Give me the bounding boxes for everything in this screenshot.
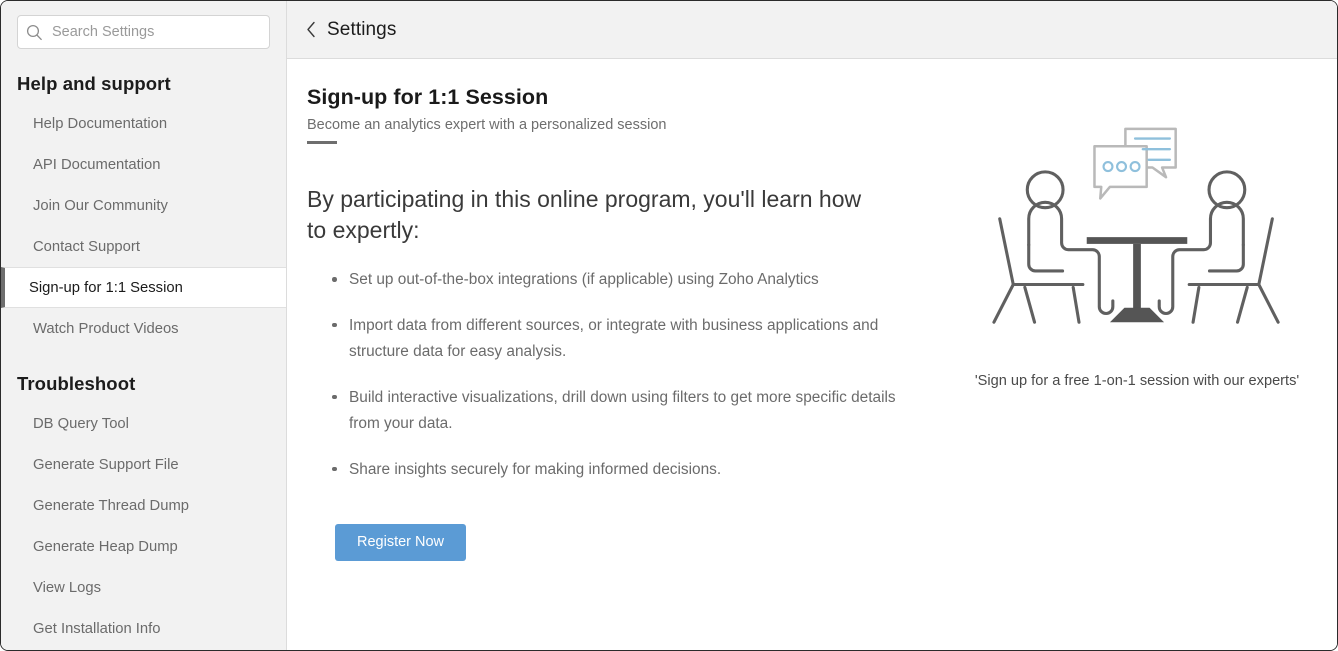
content-right-column: 'Sign up for a free 1-on-1 session with … — [937, 85, 1337, 650]
sidebar-item-label: Join Our Community — [33, 198, 168, 214]
illustration-caption: 'Sign up for a free 1-on-1 session with … — [975, 373, 1299, 389]
sidebar-item-label: Watch Product Videos — [33, 321, 179, 337]
sidebar-item-label: Get Installation Info — [33, 621, 161, 637]
sidebar-section-help-and-support: Help and support — [1, 59, 286, 103]
list-item: Set up out-of-the-box integrations (if a… — [349, 267, 914, 293]
sidebar-item-generate-thread-dump[interactable]: Generate Thread Dump — [1, 485, 286, 526]
sidebar-item-label: Help Documentation — [33, 116, 167, 132]
sidebar-item-get-installation-info[interactable]: Get Installation Info — [1, 608, 286, 649]
sidebar-item-view-logs[interactable]: View Logs — [1, 567, 286, 608]
feature-list: Set up out-of-the-box integrations (if a… — [307, 267, 937, 483]
content-area: Sign-up for 1:1 Session Become an analyt… — [287, 59, 1337, 650]
settings-sidebar: Help and support Help Documentation API … — [1, 1, 287, 650]
register-now-button[interactable]: Register Now — [335, 524, 466, 561]
two-people-at-table-with-chat-bubbles-illustration — [992, 117, 1282, 365]
sidebar-item-label: View Logs — [33, 580, 101, 596]
title-accent-bar — [307, 141, 337, 144]
sidebar-item-db-query-tool[interactable]: DB Query Tool — [1, 403, 286, 444]
content-left-column: Sign-up for 1:1 Session Become an analyt… — [307, 85, 937, 650]
sidebar-item-label: Sign-up for 1:1 Session — [29, 280, 183, 296]
sidebar-item-join-our-community[interactable]: Join Our Community — [1, 185, 286, 226]
sidebar-section-troubleshoot: Troubleshoot — [1, 349, 286, 403]
sidebar-item-watch-product-videos[interactable]: Watch Product Videos — [1, 308, 286, 349]
sidebar-item-label: Contact Support — [33, 239, 140, 255]
sidebar-item-label: Generate Thread Dump — [33, 498, 189, 514]
list-item: Build interactive visualizations, drill … — [349, 385, 914, 438]
list-item: Share insights securely for making infor… — [349, 457, 914, 483]
search-icon — [26, 24, 43, 41]
sidebar-item-label: API Documentation — [33, 157, 161, 173]
settings-window: Help and support Help Documentation API … — [0, 0, 1338, 651]
search-input[interactable] — [52, 24, 261, 40]
search-settings-field[interactable] — [17, 15, 270, 49]
sidebar-item-contact-support[interactable]: Contact Support — [1, 226, 286, 267]
lead-heading: By participating in this online program,… — [307, 184, 882, 245]
sidebar-item-generate-heap-dump[interactable]: Generate Heap Dump — [1, 526, 286, 567]
sidebar-item-label: Generate Heap Dump — [33, 539, 178, 555]
sidebar-item-sign-up-for-1-1-session[interactable]: Sign-up for 1:1 Session — [1, 267, 287, 308]
main-panel: Settings Sign-up for 1:1 Session Become … — [287, 1, 1337, 650]
page-subtitle: Become an analytics expert with a person… — [307, 117, 937, 133]
list-item: Import data from different sources, or i… — [349, 313, 914, 366]
breadcrumb[interactable]: Settings — [327, 19, 396, 41]
page-title: Sign-up for 1:1 Session — [307, 85, 937, 110]
main-header: Settings — [287, 1, 1337, 59]
sidebar-item-label: DB Query Tool — [33, 416, 129, 432]
sidebar-item-label: Generate Support File — [33, 457, 179, 473]
sidebar-item-help-documentation[interactable]: Help Documentation — [1, 103, 286, 144]
sidebar-item-api-documentation[interactable]: API Documentation — [1, 144, 286, 185]
chevron-left-icon[interactable] — [306, 21, 317, 38]
sidebar-item-generate-support-file[interactable]: Generate Support File — [1, 444, 286, 485]
